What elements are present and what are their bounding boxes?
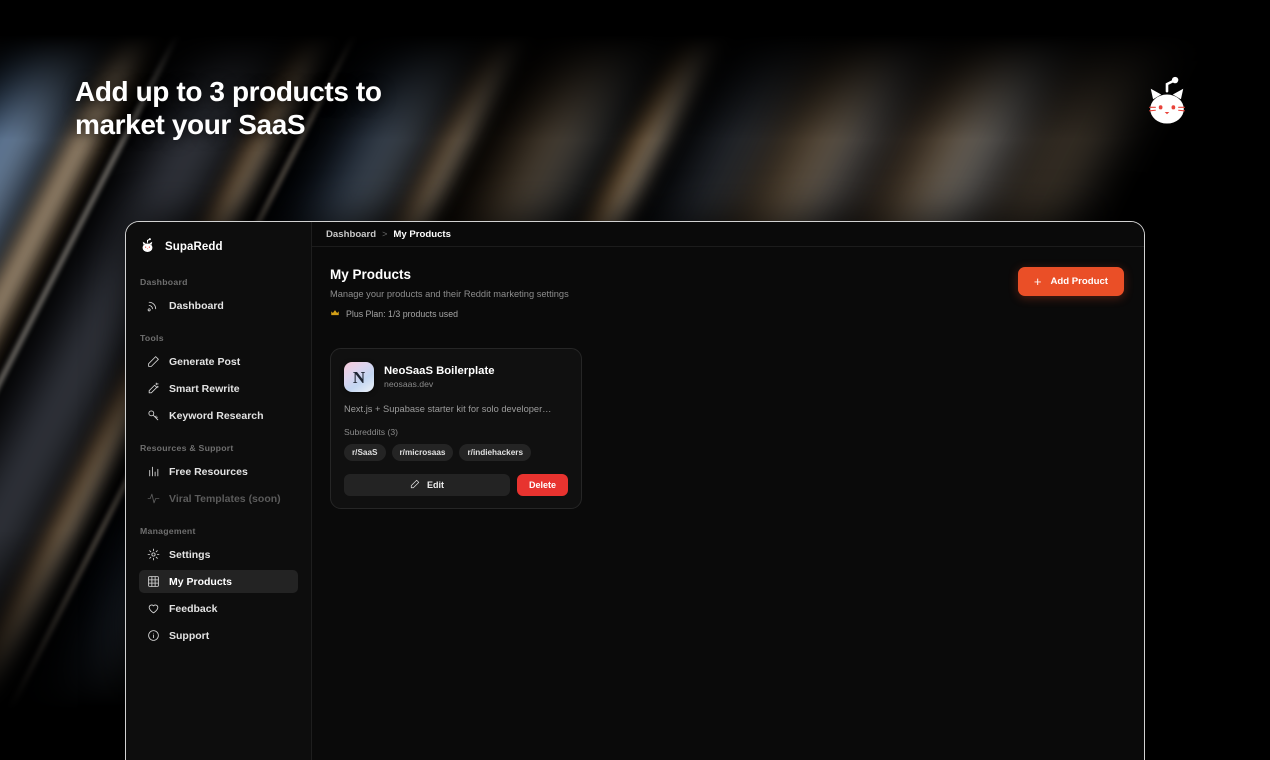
- page-header-text: My Products Manage your products and the…: [330, 267, 569, 323]
- heart-icon: [147, 602, 160, 615]
- nav-group-tools: Tools Generate Post Smart Rewrite Keywor…: [126, 333, 311, 427]
- sidebar-item-settings[interactable]: Settings: [139, 543, 298, 566]
- sidebar-item-label: Smart Rewrite: [169, 383, 240, 395]
- pencil-icon: [147, 355, 160, 368]
- sidebar-item-label: My Products: [169, 576, 232, 588]
- plan-status: Plus Plan: 1/3 products used: [330, 305, 569, 323]
- brand-name: SupaRedd: [165, 241, 223, 253]
- breadcrumb-separator: >: [382, 229, 387, 239]
- nav-group-dashboard: Dashboard Dashboard: [126, 277, 311, 317]
- gear-icon: [147, 548, 160, 561]
- sidebar-item-label: Settings: [169, 549, 210, 561]
- neosaas-app-icon: N: [344, 362, 374, 392]
- hero-headline: Add up to 3 products to market your SaaS: [75, 75, 382, 141]
- add-product-label: Add Product: [1050, 276, 1108, 287]
- breadcrumb-dashboard[interactable]: Dashboard: [326, 229, 376, 240]
- subreddit-tag-list: r/SaaS r/microsaas r/indiehackers: [344, 444, 568, 461]
- sidebar-item-dashboard[interactable]: Dashboard: [139, 294, 298, 317]
- sidebar-item-viral-templates: Viral Templates (soon): [139, 487, 298, 510]
- sidebar-item-label: Viral Templates (soon): [169, 493, 281, 505]
- sidebar-item-label: Free Resources: [169, 466, 248, 478]
- subreddit-tag[interactable]: r/microsaas: [392, 444, 454, 461]
- magic-wand-sparkle-icon: [147, 382, 160, 395]
- grid-icon: [147, 575, 160, 588]
- nav-group-resources: Resources & Support Free Resources Viral…: [126, 443, 311, 510]
- delete-product-button[interactable]: Delete: [517, 474, 568, 496]
- sidebar-item-label: Generate Post: [169, 356, 240, 368]
- sidebar-item-label: Keyword Research: [169, 410, 264, 422]
- page-header: My Products Manage your products and the…: [330, 267, 1124, 323]
- sidebar-item-my-products[interactable]: My Products: [139, 570, 298, 593]
- product-url: neosaas.dev: [384, 379, 495, 389]
- nav-group-label: Management: [126, 526, 311, 543]
- main-content: Dashboard > My Products My Products Mana…: [312, 222, 1144, 760]
- rss-signal-icon: [147, 299, 160, 312]
- app-window: SupaRedd Dashboard Dashboard Tools Gener…: [125, 221, 1145, 760]
- subreddit-tag[interactable]: r/indiehackers: [459, 444, 531, 461]
- sidebar-item-smart-rewrite[interactable]: Smart Rewrite: [139, 377, 298, 400]
- plus-icon: +: [1034, 275, 1042, 288]
- edit-label: Edit: [427, 480, 444, 490]
- info-circle-icon: [147, 629, 160, 642]
- product-description: Next.js + Supabase starter kit for solo …: [344, 404, 568, 414]
- sidebar-item-feedback[interactable]: Feedback: [139, 597, 298, 620]
- brand-logo[interactable]: SupaRedd: [126, 236, 311, 255]
- product-name: NeoSaaS Boilerplate: [384, 365, 495, 377]
- sidebar-item-keyword-research[interactable]: Keyword Research: [139, 404, 298, 427]
- product-card[interactable]: N NeoSaaS Boilerplate neosaas.dev Next.j…: [330, 348, 582, 509]
- key-icon: [147, 409, 160, 422]
- breadcrumb-current: My Products: [393, 229, 451, 240]
- subreddit-tag[interactable]: r/SaaS: [344, 444, 386, 461]
- reddit-cat-mascot-icon: [1138, 76, 1196, 134]
- pencil-icon: [410, 479, 420, 491]
- nav-group-label: Tools: [126, 333, 311, 350]
- page-subtitle: Manage your products and their Reddit ma…: [330, 289, 569, 299]
- activity-pulse-icon: [147, 492, 160, 505]
- page-title: My Products: [330, 267, 569, 282]
- bar-chart-icon: [147, 465, 160, 478]
- nav-group-label: Resources & Support: [126, 443, 311, 460]
- products-page: My Products Manage your products and the…: [312, 247, 1144, 760]
- sidebar-item-generate-post[interactable]: Generate Post: [139, 350, 298, 373]
- product-icon-letter: N: [353, 369, 365, 386]
- product-card-actions: Edit Delete: [344, 474, 568, 496]
- plan-text: Plus Plan: 1/3 products used: [346, 309, 458, 319]
- breadcrumb: Dashboard > My Products: [312, 222, 1144, 247]
- sidebar-item-label: Dashboard: [169, 300, 224, 312]
- sidebar-item-label: Support: [169, 630, 209, 642]
- add-product-button[interactable]: + Add Product: [1018, 267, 1124, 296]
- nav-group-management: Management Settings My Products Feedback: [126, 526, 311, 647]
- sidebar-item-support[interactable]: Support: [139, 624, 298, 647]
- nav-group-label: Dashboard: [126, 277, 311, 294]
- sidebar: SupaRedd Dashboard Dashboard Tools Gener…: [126, 222, 312, 760]
- sidebar-item-free-resources[interactable]: Free Resources: [139, 460, 298, 483]
- edit-product-button[interactable]: Edit: [344, 474, 510, 496]
- product-identity: NeoSaaS Boilerplate neosaas.dev: [384, 365, 495, 389]
- crown-icon: [330, 305, 340, 323]
- product-card-header: N NeoSaaS Boilerplate neosaas.dev: [344, 362, 568, 392]
- reddit-cat-mascot-icon: [139, 238, 156, 255]
- subreddits-label: Subreddits (3): [344, 427, 568, 437]
- sidebar-item-label: Feedback: [169, 603, 217, 615]
